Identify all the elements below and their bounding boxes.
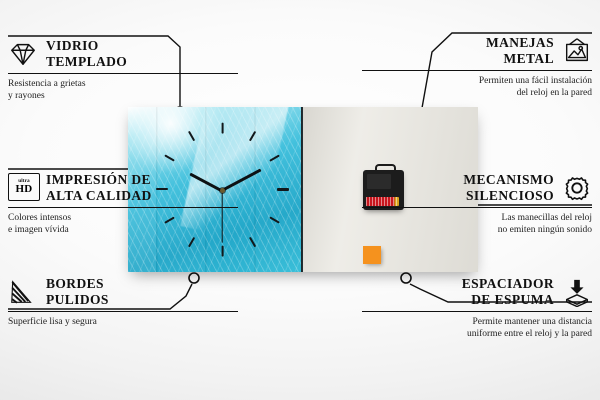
feature-manejas-metal: MANEJAS METAL Permiten una fácil instala…	[362, 35, 592, 100]
product-infographic: VIDRIO TEMPLADO Resistencia a grietas y …	[0, 0, 600, 400]
feature-title: MANEJAS METAL	[486, 35, 554, 67]
polished-edges-icon	[8, 277, 38, 307]
divider	[8, 73, 238, 74]
divider	[362, 311, 592, 312]
divider	[8, 207, 238, 208]
feature-espaciador-espuma: ESPACIADOR DE ESPUMA Permite mantener un…	[362, 276, 592, 341]
diamond-icon	[8, 39, 38, 69]
feature-desc: Las manecillas del reloj no emiten ningú…	[362, 212, 592, 237]
foam-spacer-icon	[562, 277, 592, 307]
picture-frame-icon	[562, 36, 592, 66]
divider	[8, 311, 238, 312]
feature-vidrio-templado: VIDRIO TEMPLADO Resistencia a grietas y …	[8, 38, 238, 103]
divider	[362, 207, 592, 208]
gear-icon	[562, 173, 592, 203]
feature-desc: Resistencia a grietas y rayones	[8, 78, 238, 103]
feature-desc: Permite mantener una distancia uniforme …	[362, 316, 592, 341]
feature-title: IMPRESIÓN DE ALTA CALIDAD	[46, 172, 152, 204]
feature-mecanismo-silencioso: MECANISMO SILENCIOSO Las manecillas del …	[362, 172, 592, 237]
feature-title: BORDES PULIDOS	[46, 276, 109, 308]
clock-tick-3	[277, 188, 289, 191]
feature-title: ESPACIADOR DE ESPUMA	[462, 276, 554, 308]
ultra-hd-icon: ultra HD	[8, 173, 38, 203]
feature-desc: Permiten una fácil instalación del reloj…	[362, 75, 592, 100]
feature-desc: Colores intensos e imagen vívida	[8, 212, 238, 237]
divider	[362, 70, 592, 71]
foam-spacer-chip	[363, 246, 381, 264]
clock-tick-6	[221, 246, 223, 257]
feature-title: MECANISMO SILENCIOSO	[463, 172, 554, 204]
feature-bordes-pulidos: BORDES PULIDOS Superficie lisa y segura	[8, 276, 238, 328]
feature-impresion-alta-calidad: ultra HD IMPRESIÓN DE ALTA CALIDAD Color…	[8, 172, 238, 237]
ultra-hd-big-label: HD	[16, 184, 33, 195]
feature-title: VIDRIO TEMPLADO	[46, 38, 127, 70]
feature-desc: Superficie lisa y segura	[8, 316, 238, 329]
clock-tick-12	[221, 123, 223, 134]
